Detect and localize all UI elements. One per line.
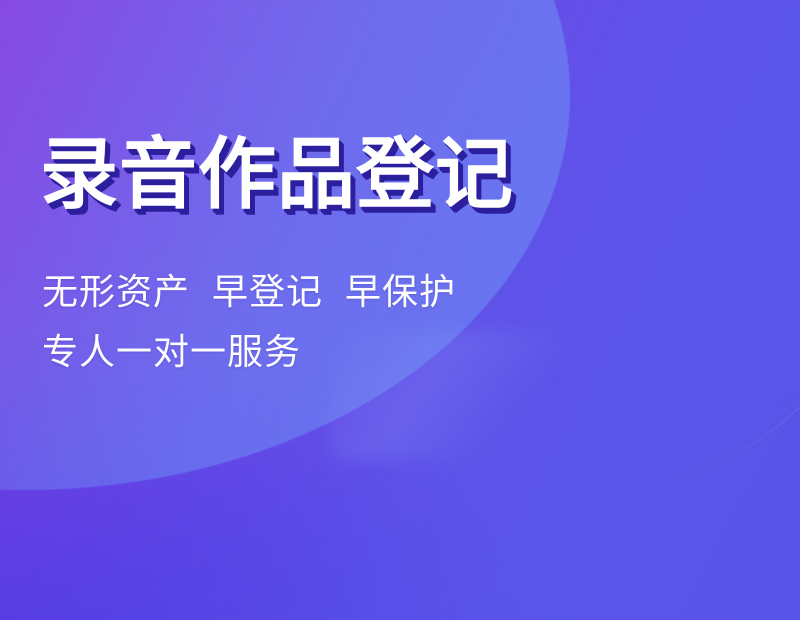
banner-subtitle-line-1: 无形资产 早登记 早保护: [42, 262, 456, 322]
banner-subtitle-line-2: 专人一对一服务: [42, 322, 456, 382]
promo-banner: 录音作品登记 无形资产 早登记 早保护 专人一对一服务: [0, 0, 800, 620]
banner-headline: 录音作品登记: [40, 131, 514, 217]
banner-content: 录音作品登记 无形资产 早登记 早保护 专人一对一服务: [40, 0, 680, 620]
banner-subtitle-group: 无形资产 早登记 早保护 专人一对一服务: [42, 262, 456, 382]
